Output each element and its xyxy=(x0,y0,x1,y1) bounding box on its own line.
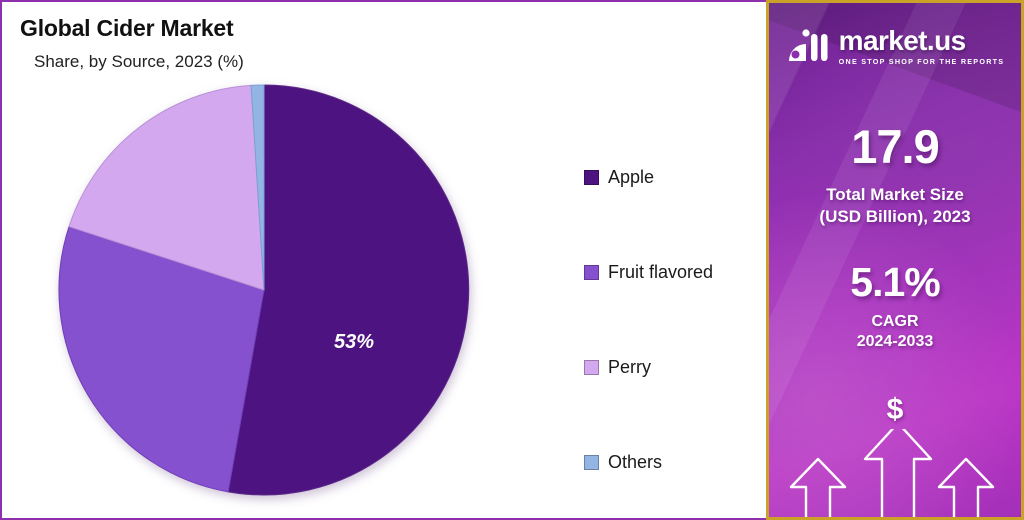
brand-stats-panel: market.us ONE STOP SHOP FOR THE REPORTS … xyxy=(766,0,1024,520)
market-size-label-line1: Total Market Size xyxy=(769,184,1021,206)
legend-label-apple: Apple xyxy=(608,167,654,188)
chart-panel: Global Cider Market Share, by Source, 20… xyxy=(0,0,766,520)
legend-item-fruit-flavored[interactable]: Fruit flavored xyxy=(584,225,759,320)
cagr-label-line2: 2024-2033 xyxy=(769,332,1021,352)
plot-area: 53% xyxy=(2,68,562,518)
pie-svg: 53% xyxy=(54,80,474,500)
legend-item-others[interactable]: Others xyxy=(584,415,759,510)
pie-data-label-apple: 53% xyxy=(334,331,374,353)
market-size-value: 17.9 xyxy=(769,123,1021,170)
legend-swatch-apple xyxy=(584,170,599,185)
dollar-symbol: $ xyxy=(769,395,1021,425)
page-title: Global Cider Market xyxy=(20,16,766,41)
market-size-label: Total Market Size (USD Billion), 2023 xyxy=(769,184,1021,228)
market-size-label-line2: (USD Billion), 2023 xyxy=(769,206,1021,228)
legend-label-perry: Perry xyxy=(608,357,651,378)
cagr-label-line1: CAGR xyxy=(769,312,1021,332)
chart-header: Global Cider Market Share, by Source, 20… xyxy=(2,2,766,72)
growth-arrows-icon xyxy=(769,429,1024,520)
market-us-logo-icon xyxy=(786,27,832,65)
cagr-value: 5.1% xyxy=(769,262,1021,303)
brand-tagline: ONE STOP SHOP FOR THE REPORTS xyxy=(839,58,1005,65)
infographic-root: Global Cider Market Share, by Source, 20… xyxy=(0,0,1024,520)
legend-label-fruit-flavored: Fruit flavored xyxy=(608,262,713,283)
legend-swatch-others xyxy=(584,455,599,470)
legend-label-others: Others xyxy=(608,452,662,473)
brand-name: market.us xyxy=(839,27,1005,55)
legend-swatch-fruit-flavored xyxy=(584,265,599,280)
market-us-logo-text: market.us ONE STOP SHOP FOR THE REPORTS xyxy=(839,27,1005,65)
legend-item-perry[interactable]: Perry xyxy=(584,320,759,415)
market-us-logo[interactable]: market.us ONE STOP SHOP FOR THE REPORTS xyxy=(769,3,1021,65)
pie-chart: 53% xyxy=(54,80,474,500)
legend-swatch-perry xyxy=(584,360,599,375)
legend-item-apple[interactable]: Apple xyxy=(584,130,759,225)
legend: Apple Fruit flavored Perry Others xyxy=(584,130,759,510)
cagr-label: CAGR 2024-2033 xyxy=(769,312,1021,353)
